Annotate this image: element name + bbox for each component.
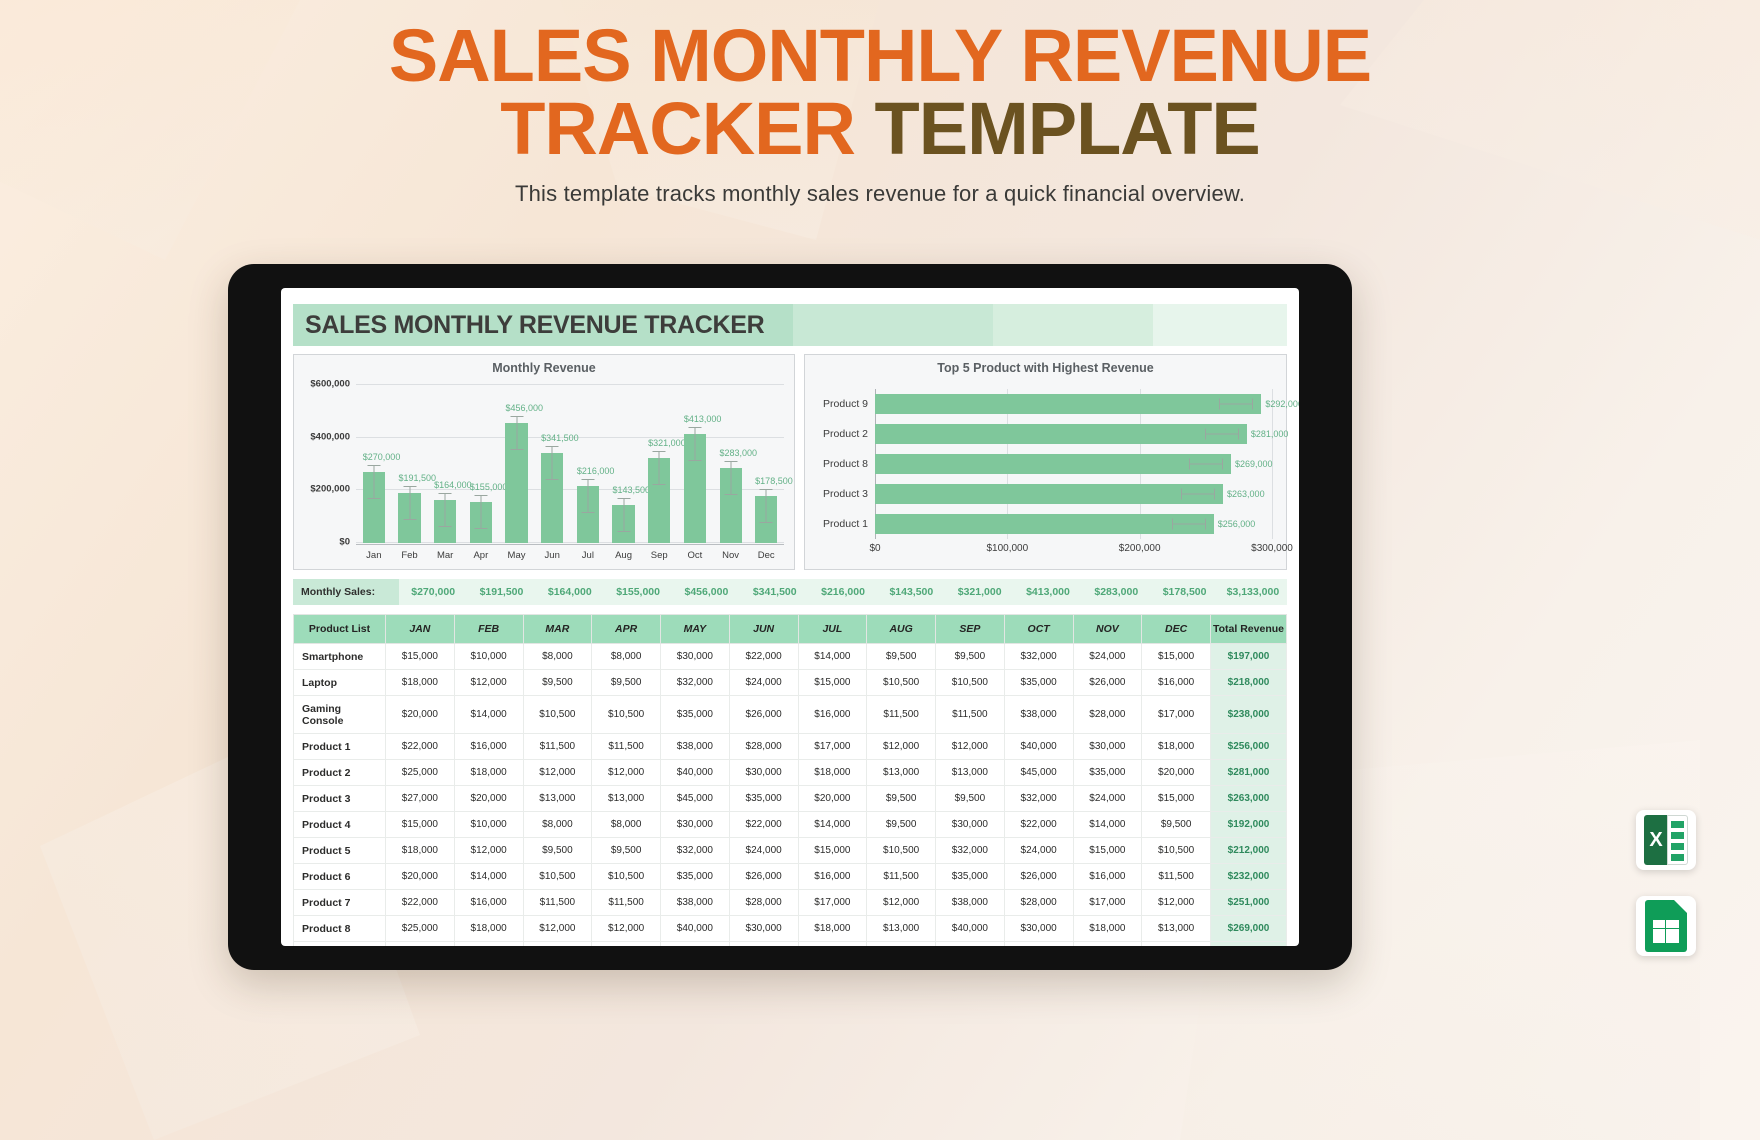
revenue-cell[interactable]: $12,000 — [454, 838, 523, 864]
revenue-cell[interactable]: $9,500 — [592, 670, 661, 696]
revenue-cell[interactable]: $15,000 — [1073, 838, 1142, 864]
bar[interactable]: $341,500 — [541, 453, 563, 543]
x-tick-label: $100,000 — [986, 543, 1028, 554]
revenue-cell[interactable]: $27,000 — [386, 942, 455, 947]
revenue-cell[interactable]: $11,500 — [592, 734, 661, 760]
product-name-cell[interactable]: Smartphone — [294, 644, 386, 670]
revenue-cell[interactable]: $20,000 — [1142, 760, 1211, 786]
table-row: Laptop$18,000$12,000$9,500$9,500$32,000$… — [294, 670, 1287, 696]
x-tick-label: Nov — [713, 545, 749, 569]
monthly-sales-label: Monthly Sales: — [293, 579, 399, 605]
tablet-screen: SALES MONTHLY REVENUE TRACKER Monthly Re… — [281, 288, 1299, 946]
bar-column: $155,000 — [463, 385, 499, 543]
revenue-cell[interactable]: $16,000 — [798, 696, 867, 734]
product-name-cell[interactable]: Laptop — [294, 670, 386, 696]
revenue-cell[interactable]: $18,000 — [1142, 734, 1211, 760]
revenue-cell[interactable]: $40,000 — [936, 916, 1005, 942]
revenue-cell[interactable]: $30,000 — [729, 916, 798, 942]
y-tick-label: $200,000 — [310, 484, 350, 495]
revenue-cell[interactable]: $15,000 — [798, 670, 867, 696]
page-header: SALES MONTHLY REVENUE TRACKER TEMPLATE T… — [0, 20, 1760, 207]
bar-column: $270,000 — [356, 385, 392, 543]
bar-value-label: $256,000 — [1218, 519, 1256, 529]
error-bar — [552, 446, 553, 480]
table-column-header[interactable]: JUN — [729, 615, 798, 644]
product-name-cell[interactable]: Product 9 — [294, 942, 386, 947]
revenue-cell[interactable]: $24,000 — [729, 838, 798, 864]
revenue-cell[interactable]: $25,000 — [386, 760, 455, 786]
revenue-cell[interactable]: $13,000 — [592, 942, 661, 947]
revenue-cell[interactable]: $13,000 — [523, 786, 592, 812]
revenue-cell[interactable]: $35,000 — [936, 864, 1005, 890]
revenue-cell[interactable]: $16,000 — [454, 734, 523, 760]
top5-products-chart-title: Top 5 Product with Highest Revenue — [805, 355, 1286, 375]
product-name-cell[interactable]: Product 3 — [294, 786, 386, 812]
revenue-cell[interactable]: $45,000 — [661, 786, 730, 812]
top5-products-x-axis: $0$100,000$200,000$300,000 — [875, 543, 1272, 563]
category-label: Product 1 — [823, 518, 868, 530]
top5-products-chart[interactable]: Top 5 Product with Highest Revenue Produ… — [804, 354, 1287, 570]
revenue-cell[interactable]: $40,000 — [661, 916, 730, 942]
x-tick-label: May — [499, 545, 535, 569]
revenue-cell[interactable]: $17,000 — [798, 890, 867, 916]
revenue-cell[interactable]: $22,000 — [729, 812, 798, 838]
revenue-cell[interactable]: $9,500 — [1142, 812, 1211, 838]
revenue-cell[interactable]: $30,000 — [661, 812, 730, 838]
revenue-cell[interactable]: $32,000 — [1004, 644, 1073, 670]
tablet-frame: SALES MONTHLY REVENUE TRACKER Monthly Re… — [228, 264, 1352, 970]
revenue-cell[interactable]: $40,000 — [1004, 734, 1073, 760]
monthly-sales-value: $155,000 — [604, 579, 672, 605]
revenue-cell[interactable]: $26,000 — [729, 864, 798, 890]
monthly-sales-value: $164,000 — [536, 579, 604, 605]
bar-column: $191,500 — [392, 385, 428, 543]
total-revenue-cell[interactable]: $256,000 — [1211, 734, 1287, 760]
bar[interactable]: $456,000 — [505, 423, 527, 543]
revenue-cell[interactable]: $30,000 — [1004, 916, 1073, 942]
revenue-cell[interactable]: $16,000 — [454, 890, 523, 916]
product-name-cell[interactable]: Product 7 — [294, 890, 386, 916]
revenue-cell[interactable]: $13,000 — [936, 760, 1005, 786]
total-revenue-cell[interactable]: $218,000 — [1211, 670, 1287, 696]
sheet-title-cell: SALES MONTHLY REVENUE TRACKER — [293, 304, 793, 346]
revenue-cell[interactable]: $35,000 — [1004, 942, 1073, 947]
table-row: Product 7$22,000$16,000$11,500$11,500$38… — [294, 890, 1287, 916]
bar[interactable]: $191,500 — [398, 493, 420, 543]
table-column-header[interactable]: Product List — [294, 615, 386, 644]
revenue-cell[interactable]: $28,000 — [1004, 890, 1073, 916]
table-column-header[interactable]: NOV — [1073, 615, 1142, 644]
revenue-cell[interactable]: $11,500 — [936, 696, 1005, 734]
bar[interactable]: $263,000 — [875, 484, 1223, 503]
bar-column: $341,500 — [534, 385, 570, 543]
bar[interactable]: $413,000 — [684, 434, 706, 543]
monthly-revenue-plot: $0$200,000$400,000$600,000$270,000$191,5… — [356, 385, 784, 543]
sheet-title: SALES MONTHLY REVENUE TRACKER — [305, 311, 764, 340]
error-bar — [480, 495, 481, 529]
revenue-cell[interactable]: $22,000 — [386, 890, 455, 916]
bar-value-label: $178,500 — [755, 476, 793, 486]
revenue-cell[interactable]: $38,000 — [661, 890, 730, 916]
revenue-cell[interactable]: $18,000 — [798, 760, 867, 786]
revenue-cell[interactable]: $45,000 — [936, 942, 1005, 947]
revenue-cell[interactable]: $13,000 — [523, 942, 592, 947]
sheet-title-filler-3 — [1153, 304, 1287, 346]
bar[interactable]: $155,000 — [470, 502, 492, 543]
x-tick-label: $200,000 — [1119, 543, 1161, 554]
bar-column: $216,000 — [570, 385, 606, 543]
x-tick-label: Jun — [534, 545, 570, 569]
total-revenue-cell[interactable]: $197,000 — [1211, 644, 1287, 670]
revenue-cell[interactable]: $24,000 — [729, 670, 798, 696]
y-tick-label: $600,000 — [310, 379, 350, 390]
bar[interactable]: $143,500 — [612, 505, 634, 543]
revenue-cell[interactable]: $22,000 — [729, 644, 798, 670]
revenue-cell[interactable]: $28,000 — [729, 890, 798, 916]
revenue-cell[interactable]: $45,000 — [1004, 760, 1073, 786]
page-subtitle: This template tracks monthly sales reven… — [0, 181, 1760, 207]
revenue-cell[interactable]: $12,000 — [592, 916, 661, 942]
error-bar — [373, 465, 374, 499]
revenue-cell[interactable]: $27,000 — [386, 786, 455, 812]
revenue-cell[interactable]: $35,000 — [661, 696, 730, 734]
error-bar — [659, 451, 660, 485]
revenue-cell[interactable]: $18,000 — [798, 916, 867, 942]
bar-column: $164,000 — [427, 385, 463, 543]
bar[interactable]: $178,500 — [755, 496, 777, 543]
revenue-cell[interactable]: $15,000 — [386, 644, 455, 670]
revenue-cell[interactable]: $24,000 — [1073, 644, 1142, 670]
table-column-header[interactable]: SEP — [936, 615, 1005, 644]
table-row: Product 6$20,000$14,000$10,500$10,500$35… — [294, 864, 1287, 890]
revenue-cell[interactable]: $20,000 — [1073, 942, 1142, 947]
table-row: Product 8$25,000$18,000$12,000$12,000$40… — [294, 916, 1287, 942]
revenue-cell[interactable]: $10,500 — [523, 864, 592, 890]
table-row: Smartphone$15,000$10,000$8,000$8,000$30,… — [294, 644, 1287, 670]
google-sheets-file-icon[interactable] — [1636, 896, 1696, 956]
total-revenue-cell[interactable]: $238,000 — [1211, 696, 1287, 734]
bar[interactable]: $270,000 — [363, 472, 385, 543]
revenue-cell[interactable]: $12,000 — [523, 760, 592, 786]
revenue-cell[interactable]: $16,000 — [1142, 670, 1211, 696]
bar-column: $321,000 — [641, 385, 677, 543]
table-column-header[interactable]: Total Revenue — [1211, 615, 1287, 644]
revenue-cell[interactable]: $10,500 — [523, 696, 592, 734]
x-tick-label: Feb — [392, 545, 428, 569]
table-body: Smartphone$15,000$10,000$8,000$8,000$30,… — [294, 644, 1287, 947]
revenue-cell[interactable]: $22,000 — [386, 734, 455, 760]
revenue-cell[interactable]: $11,500 — [867, 696, 936, 734]
bar-column: $456,000 — [499, 385, 535, 543]
revenue-cell[interactable]: $30,000 — [1073, 734, 1142, 760]
revenue-cell[interactable]: $9,500 — [867, 644, 936, 670]
charts-area: Monthly Revenue $0$200,000$400,000$600,0… — [293, 354, 1287, 570]
table-column-header[interactable]: OCT — [1004, 615, 1073, 644]
bar-column: $413,000 — [677, 385, 713, 543]
spreadsheet: SALES MONTHLY REVENUE TRACKER Monthly Re… — [293, 304, 1287, 936]
revenue-cell[interactable]: $12,000 — [523, 916, 592, 942]
table-row: Product 5$18,000$12,000$9,500$9,500$32,0… — [294, 838, 1287, 864]
error-bar — [1181, 494, 1215, 495]
revenue-cell[interactable]: $9,500 — [936, 786, 1005, 812]
revenue-table: Product ListJANFEBMARAPRMAYJUNJULAUGSEPO… — [293, 614, 1287, 946]
table-column-header[interactable]: MAY — [661, 615, 730, 644]
bar[interactable]: $292,000 — [875, 394, 1261, 413]
table-column-header[interactable]: JUL — [798, 615, 867, 644]
table-column-header[interactable]: AUG — [867, 615, 936, 644]
revenue-cell[interactable]: $8,000 — [592, 812, 661, 838]
revenue-cell[interactable]: $14,000 — [454, 864, 523, 890]
revenue-cell[interactable]: $30,000 — [936, 812, 1005, 838]
table-column-header[interactable]: DEC — [1142, 615, 1211, 644]
bar-row: Product 3$263,000 — [875, 479, 1272, 509]
revenue-cell[interactable]: $17,000 — [1073, 890, 1142, 916]
revenue-cell[interactable]: $18,000 — [454, 760, 523, 786]
top5-products-plot: Product 9$292,000Product 2$281,000Produc… — [875, 389, 1272, 539]
product-name-cell[interactable]: Gaming Console — [294, 696, 386, 734]
revenue-cell[interactable]: $38,000 — [661, 734, 730, 760]
product-name-cell[interactable]: Product 2 — [294, 760, 386, 786]
bar-column: $143,500 — [606, 385, 642, 543]
x-tick-label: Mar — [427, 545, 463, 569]
revenue-cell[interactable]: $12,000 — [867, 890, 936, 916]
revenue-cell[interactable]: $18,000 — [1073, 916, 1142, 942]
error-bar — [730, 461, 731, 495]
revenue-cell[interactable]: $12,000 — [867, 734, 936, 760]
revenue-cell[interactable]: $28,000 — [729, 734, 798, 760]
monthly-sales-value: $270,000 — [399, 579, 467, 605]
revenue-cell[interactable]: $10,500 — [936, 670, 1005, 696]
monthly-sales-value: $143,500 — [877, 579, 945, 605]
table-column-header[interactable]: APR — [592, 615, 661, 644]
table-row: Product 1$22,000$16,000$11,500$11,500$38… — [294, 734, 1287, 760]
revenue-cell[interactable]: $26,000 — [1073, 670, 1142, 696]
revenue-cell[interactable]: $14,000 — [798, 644, 867, 670]
x-tick-label: Jul — [570, 545, 606, 569]
bar-column: $178,500 — [748, 385, 784, 543]
revenue-cell[interactable]: $11,500 — [592, 890, 661, 916]
revenue-cell[interactable]: $35,000 — [1004, 670, 1073, 696]
total-revenue-cell[interactable]: $232,000 — [1211, 864, 1287, 890]
revenue-cell[interactable]: $20,000 — [798, 786, 867, 812]
revenue-cell[interactable]: $10,500 — [1142, 838, 1211, 864]
sheet-title-row: SALES MONTHLY REVENUE TRACKER — [293, 304, 1287, 346]
revenue-cell[interactable]: $15,000 — [1142, 786, 1211, 812]
revenue-cell[interactable]: $14,000 — [454, 696, 523, 734]
title-brown: TEMPLATE — [875, 87, 1260, 170]
bar[interactable]: $321,000 — [648, 458, 670, 543]
bar[interactable]: $281,000 — [875, 424, 1247, 443]
bar-value-label: $269,000 — [1235, 459, 1273, 469]
monthly-sales-value: $283,000 — [1082, 579, 1150, 605]
revenue-cell[interactable]: $8,000 — [523, 812, 592, 838]
revenue-cell[interactable]: $35,000 — [729, 786, 798, 812]
revenue-cell[interactable]: $10,500 — [867, 670, 936, 696]
revenue-cell[interactable]: $20,000 — [386, 864, 455, 890]
revenue-cell[interactable]: $14,000 — [1073, 812, 1142, 838]
revenue-cell[interactable]: $20,000 — [454, 942, 523, 947]
revenue-cell[interactable]: $13,000 — [1142, 916, 1211, 942]
revenue-cell[interactable]: $16,000 — [1073, 864, 1142, 890]
revenue-cell[interactable]: $32,000 — [661, 838, 730, 864]
product-name-cell[interactable]: Product 5 — [294, 838, 386, 864]
total-revenue-cell[interactable]: $292,000 — [1211, 942, 1287, 947]
total-revenue-cell[interactable]: $269,000 — [1211, 916, 1287, 942]
revenue-cell[interactable]: $8,000 — [523, 644, 592, 670]
revenue-cell[interactable]: $20,000 — [454, 786, 523, 812]
revenue-cell[interactable]: $35,000 — [661, 864, 730, 890]
revenue-cell[interactable]: $26,000 — [729, 696, 798, 734]
revenue-cell[interactable]: $10,500 — [592, 696, 661, 734]
revenue-cell[interactable]: $22,000 — [1004, 812, 1073, 838]
revenue-cell[interactable]: $9,500 — [867, 942, 936, 947]
revenue-cell[interactable]: $10,000 — [454, 644, 523, 670]
revenue-cell[interactable]: $12,000 — [1142, 890, 1211, 916]
revenue-cell[interactable]: $11,500 — [523, 890, 592, 916]
revenue-cell[interactable]: $17,000 — [1142, 696, 1211, 734]
revenue-cell[interactable]: $35,000 — [729, 942, 798, 947]
total-revenue-cell[interactable]: $251,000 — [1211, 890, 1287, 916]
x-tick-label: $300,000 — [1251, 543, 1293, 554]
monthly-sales-row: Monthly Sales: $270,000$191,500$164,000$… — [293, 579, 1287, 605]
bar[interactable]: $283,000 — [720, 468, 742, 543]
bar[interactable]: $269,000 — [875, 454, 1231, 473]
product-name-cell[interactable]: Product 8 — [294, 916, 386, 942]
revenue-cell[interactable]: $15,000 — [798, 838, 867, 864]
revenue-cell[interactable]: $9,500 — [936, 644, 1005, 670]
revenue-cell[interactable]: $9,500 — [523, 838, 592, 864]
revenue-cell[interactable]: $14,000 — [798, 812, 867, 838]
revenue-cell[interactable]: $28,000 — [1073, 696, 1142, 734]
monthly-sales-value: $178,500 — [1150, 579, 1218, 605]
title-orange-line1: SALES MONTHLY REVENUE — [389, 14, 1371, 97]
error-bar — [409, 486, 410, 520]
revenue-cell[interactable]: $9,500 — [592, 838, 661, 864]
revenue-cell[interactable]: $12,000 — [454, 670, 523, 696]
y-tick-label: $400,000 — [310, 431, 350, 442]
revenue-cell[interactable]: $11,500 — [523, 734, 592, 760]
revenue-cell[interactable]: $9,500 — [1142, 942, 1211, 947]
revenue-cell[interactable]: $12,000 — [592, 760, 661, 786]
error-bar — [1172, 524, 1206, 525]
monthly-sales-value: $3,133,000 — [1219, 579, 1287, 605]
bar[interactable]: $164,000 — [434, 500, 456, 543]
revenue-cell[interactable]: $10,000 — [454, 812, 523, 838]
revenue-cell[interactable]: $9,500 — [523, 670, 592, 696]
table-column-header[interactable]: MAR — [523, 615, 592, 644]
revenue-cell[interactable]: $30,000 — [661, 644, 730, 670]
revenue-cell[interactable]: $38,000 — [936, 890, 1005, 916]
revenue-cell[interactable]: $32,000 — [661, 670, 730, 696]
revenue-cell[interactable]: $13,000 — [867, 760, 936, 786]
product-name-cell[interactable]: Product 1 — [294, 734, 386, 760]
monthly-sales-value: $216,000 — [809, 579, 877, 605]
revenue-cell[interactable]: $18,000 — [454, 916, 523, 942]
revenue-cell[interactable]: $13,000 — [592, 786, 661, 812]
revenue-cell[interactable]: $45,000 — [661, 942, 730, 947]
error-bar — [1219, 404, 1253, 405]
revenue-cell[interactable]: $9,500 — [867, 786, 936, 812]
revenue-cell[interactable]: $15,000 — [1142, 644, 1211, 670]
total-revenue-cell[interactable]: $192,000 — [1211, 812, 1287, 838]
revenue-cell[interactable]: $17,000 — [798, 734, 867, 760]
table-row: Product 3$27,000$20,000$13,000$13,000$45… — [294, 786, 1287, 812]
product-name-cell[interactable]: Product 6 — [294, 864, 386, 890]
monthly-revenue-x-axis: JanFebMarAprMayJunJulAugSepOctNovDec — [356, 545, 784, 569]
revenue-cell[interactable]: $32,000 — [1004, 786, 1073, 812]
revenue-cell[interactable]: $32,000 — [936, 838, 1005, 864]
table-row: Product 9$27,000$20,000$13,000$13,000$45… — [294, 942, 1287, 947]
bar-row: Product 2$281,000 — [875, 419, 1272, 449]
error-bar — [587, 479, 588, 513]
title-orange-line2: TRACKER — [500, 87, 855, 170]
category-label: Product 3 — [823, 488, 868, 500]
revenue-cell[interactable]: $35,000 — [1073, 760, 1142, 786]
table-row: Product 2$25,000$18,000$12,000$12,000$40… — [294, 760, 1287, 786]
revenue-cell[interactable]: $38,000 — [1004, 696, 1073, 734]
revenue-cell[interactable]: $20,000 — [386, 696, 455, 734]
bar-value-label: $292,000 — [1265, 399, 1299, 409]
revenue-cell[interactable]: $24,000 — [1073, 786, 1142, 812]
bar-value-label: $263,000 — [1227, 489, 1265, 499]
revenue-cell[interactable]: $11,500 — [1142, 864, 1211, 890]
category-label: Product 9 — [823, 398, 868, 410]
x-tick-label: Apr — [463, 545, 499, 569]
table-row: Gaming Console$20,000$14,000$10,500$10,5… — [294, 696, 1287, 734]
monthly-revenue-chart[interactable]: Monthly Revenue $0$200,000$400,000$600,0… — [293, 354, 795, 570]
revenue-cell[interactable]: $26,000 — [1004, 864, 1073, 890]
total-revenue-cell[interactable]: $281,000 — [1211, 760, 1287, 786]
revenue-cell[interactable]: $15,000 — [386, 812, 455, 838]
bar[interactable]: $256,000 — [875, 514, 1214, 533]
x-tick-label: $0 — [869, 543, 880, 554]
product-name-cell[interactable]: Product 4 — [294, 812, 386, 838]
revenue-cell[interactable]: $18,000 — [386, 838, 455, 864]
table-column-header[interactable]: JAN — [386, 615, 455, 644]
revenue-cell[interactable]: $11,500 — [867, 864, 936, 890]
excel-file-icon[interactable]: X — [1636, 810, 1696, 870]
revenue-cell[interactable]: $10,500 — [592, 864, 661, 890]
revenue-cell[interactable]: $12,000 — [936, 734, 1005, 760]
revenue-cell[interactable]: $40,000 — [661, 760, 730, 786]
error-bar — [766, 489, 767, 523]
error-bar — [1189, 464, 1223, 465]
x-tick-label: Oct — [677, 545, 713, 569]
error-bar — [445, 493, 446, 527]
error-bar — [516, 416, 517, 450]
revenue-cell[interactable]: $24,000 — [1004, 838, 1073, 864]
revenue-cell[interactable]: $8,000 — [592, 644, 661, 670]
revenue-cell[interactable]: $25,000 — [386, 916, 455, 942]
revenue-cell[interactable]: $16,000 — [798, 864, 867, 890]
monthly-sales-value: $456,000 — [672, 579, 740, 605]
revenue-cell[interactable]: $18,000 — [386, 670, 455, 696]
x-tick-label: Jan — [356, 545, 392, 569]
revenue-cell[interactable]: $20,000 — [798, 942, 867, 947]
x-tick-label: Dec — [748, 545, 784, 569]
total-revenue-cell[interactable]: $263,000 — [1211, 786, 1287, 812]
revenue-cell[interactable]: $9,500 — [867, 812, 936, 838]
x-tick-label: Aug — [606, 545, 642, 569]
bar[interactable]: $216,000 — [577, 486, 599, 543]
x-tick-label: Sep — [641, 545, 677, 569]
revenue-cell[interactable]: $10,500 — [867, 838, 936, 864]
total-revenue-cell[interactable]: $212,000 — [1211, 838, 1287, 864]
revenue-cell[interactable]: $13,000 — [867, 916, 936, 942]
y-tick-label: $0 — [339, 537, 350, 548]
table-column-header[interactable]: FEB — [454, 615, 523, 644]
revenue-cell[interactable]: $30,000 — [729, 760, 798, 786]
